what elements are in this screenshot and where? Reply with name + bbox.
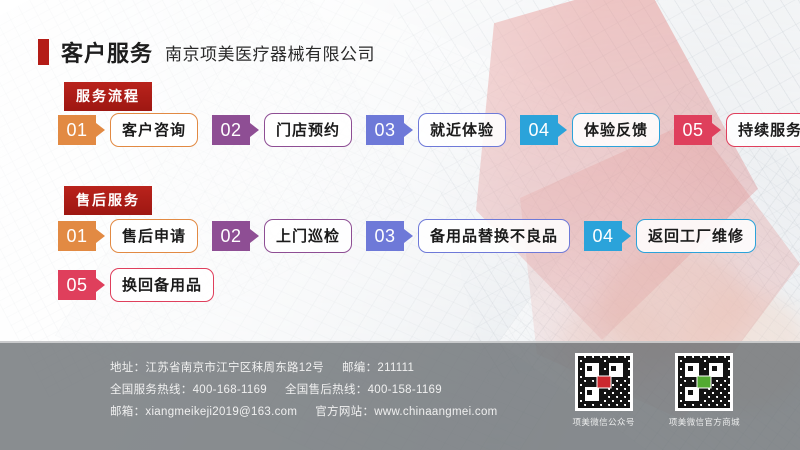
footer-text-part: 全国售后热线：400-158-1169	[285, 384, 442, 396]
step-label: 返回工厂维修	[636, 219, 756, 253]
qr-code-caption: 项美微信官方商城	[669, 416, 740, 428]
qr-code-item[interactable]: 项美微信公众号	[572, 353, 634, 428]
page-header: 客户服务 南京项美医疗器械有限公司	[38, 36, 375, 68]
step-number-badge: 03	[366, 115, 413, 145]
step-label: 体验反馈	[572, 113, 660, 147]
flow-step[interactable]: 04返回工厂维修	[584, 219, 756, 253]
chevron-right-icon	[96, 123, 105, 137]
step-number: 04	[520, 115, 558, 145]
step-number: 03	[366, 221, 404, 251]
flow-step[interactable]: 02门店预约	[212, 113, 352, 147]
step-number-badge: 02	[212, 221, 259, 251]
step-number-badge: 02	[212, 115, 259, 145]
poster-canvas: 客户服务 南京项美医疗器械有限公司 服务流程 01客户咨询02门店预约03就近体…	[0, 0, 800, 450]
flow-step[interactable]: 05换回备用品	[58, 268, 214, 302]
step-label: 客户咨询	[110, 113, 198, 147]
chevron-right-icon	[96, 278, 105, 292]
chevron-right-icon	[712, 123, 721, 137]
step-number-badge: 05	[58, 270, 105, 300]
chevron-right-icon	[404, 229, 413, 243]
flow-row-service: 01客户咨询02门店预约03就近体验04体验反馈05持续服务	[58, 113, 800, 147]
step-number-badge: 04	[520, 115, 567, 145]
qr-code-caption: 项美微信公众号	[572, 416, 634, 428]
chevron-right-icon	[250, 123, 259, 137]
step-number: 03	[366, 115, 404, 145]
qr-code-item[interactable]: 项美微信官方商城	[669, 353, 740, 428]
flow-step[interactable]: 01客户咨询	[58, 113, 198, 147]
step-label: 门店预约	[264, 113, 352, 147]
step-number: 02	[212, 115, 250, 145]
step-label: 售后申请	[110, 219, 198, 253]
footer-line: 邮箱：xiangmeikeji2019@163.com官方网站：www.chin…	[110, 401, 498, 423]
flow-row-after-sales-2: 05换回备用品	[58, 268, 228, 302]
flow-row-after-sales-1: 01售后申请02上门巡检03备用品替换不良品04返回工厂维修	[58, 219, 770, 253]
flow-step[interactable]: 03备用品替换不良品	[366, 219, 570, 253]
section-tag-service-flow: 服务流程	[64, 82, 152, 111]
flow-step[interactable]: 05持续服务	[674, 113, 800, 147]
step-number-badge: 01	[58, 115, 105, 145]
footer-qr-block: 项美微信公众号项美微信官方商城	[572, 353, 740, 428]
chevron-right-icon	[250, 229, 259, 243]
footer-text-part: 邮箱：xiangmeikeji2019@163.com	[110, 406, 297, 418]
step-label: 上门巡检	[264, 219, 352, 253]
chevron-right-icon	[404, 123, 413, 137]
page-title: 客户服务	[61, 36, 153, 68]
step-label: 持续服务	[726, 113, 800, 147]
step-label: 换回备用品	[110, 268, 214, 302]
company-name: 南京项美医疗器械有限公司	[165, 40, 375, 65]
flow-step[interactable]: 01售后申请	[58, 219, 198, 253]
step-number: 05	[58, 270, 96, 300]
footer-bar: 地址：江苏省南京市江宁区秣周东路12号邮编：211111全国服务热线：400-1…	[0, 341, 800, 450]
title-accent-bar	[38, 39, 49, 65]
step-label: 就近体验	[418, 113, 506, 147]
footer-contact-block: 地址：江苏省南京市江宁区秣周东路12号邮编：211111全国服务热线：400-1…	[110, 357, 498, 423]
footer-text-part: 邮编：211111	[342, 362, 414, 374]
step-number: 04	[584, 221, 622, 251]
step-number-badge: 05	[674, 115, 721, 145]
footer-text-part: 地址：江苏省南京市江宁区秣周东路12号	[110, 362, 324, 374]
flow-step[interactable]: 04体验反馈	[520, 113, 660, 147]
step-number: 05	[674, 115, 712, 145]
step-number-badge: 03	[366, 221, 413, 251]
qr-center-logo-icon	[596, 376, 611, 389]
qr-code-icon[interactable]	[675, 353, 733, 411]
step-number-badge: 04	[584, 221, 631, 251]
footer-line: 地址：江苏省南京市江宁区秣周东路12号邮编：211111	[110, 357, 498, 379]
chevron-right-icon	[622, 229, 631, 243]
step-label: 备用品替换不良品	[418, 219, 570, 253]
qr-center-logo-icon	[697, 376, 712, 389]
step-number: 01	[58, 115, 96, 145]
section-tag-after-sales: 售后服务	[64, 186, 152, 215]
footer-text-part: 官方网站：www.chinaangmei.com	[315, 406, 497, 418]
qr-pattern	[578, 356, 630, 408]
step-number: 02	[212, 221, 250, 251]
chevron-right-icon	[96, 229, 105, 243]
flow-step[interactable]: 02上门巡检	[212, 219, 352, 253]
footer-line: 全国服务热线：400-168-1169全国售后热线：400-158-1169	[110, 379, 498, 401]
flow-step[interactable]: 03就近体验	[366, 113, 506, 147]
step-number: 01	[58, 221, 96, 251]
step-number-badge: 01	[58, 221, 105, 251]
footer-text-part: 全国服务热线：400-168-1169	[110, 384, 267, 396]
qr-code-icon[interactable]	[575, 353, 633, 411]
qr-pattern	[678, 356, 730, 408]
chevron-right-icon	[558, 123, 567, 137]
